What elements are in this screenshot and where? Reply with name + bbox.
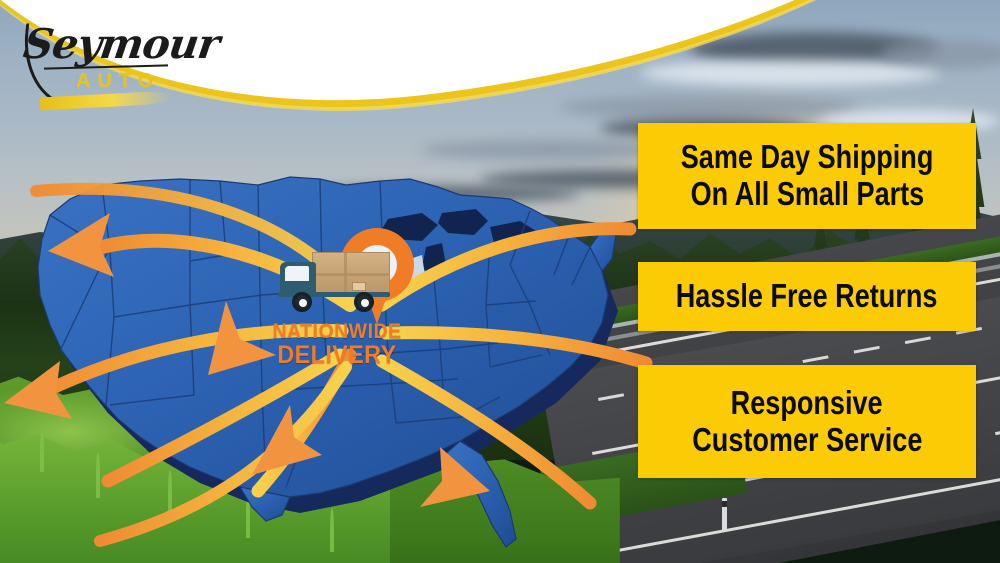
logo-subtitle: AUTO	[76, 70, 160, 93]
callout-3-line-2: Customer Service	[692, 422, 922, 459]
callout-list: Same Day Shipping On All Small Parts Has…	[638, 0, 976, 563]
delivery-truck-icon	[278, 252, 390, 318]
logo-wordmark: Seymour	[21, 20, 222, 68]
callout-1-line-2: On All Small Parts	[690, 176, 924, 213]
callout-responsive-customer-service[interactable]: Responsive Customer Service	[638, 365, 976, 478]
seymour-auto-logo[interactable]: Seymour AUTO	[18, 18, 248, 108]
banner-canvas: NATIONWIDE DELIVERY Seymour AUTO Same Da…	[0, 0, 1000, 563]
callout-2-line-1: Hassle Free Returns	[676, 278, 938, 315]
box-tape-vertical	[344, 252, 347, 296]
callout-1-line-1: Same Day Shipping	[681, 139, 934, 176]
callout-3-line-1: Responsive	[731, 385, 883, 422]
delivery-label-line2: DELIVERY	[267, 343, 407, 368]
truck-wheel-rear	[354, 292, 374, 312]
truck-wheel-front	[292, 292, 312, 312]
callout-same-day-shipping[interactable]: Same Day Shipping On All Small Parts	[638, 123, 976, 229]
box-label	[352, 282, 366, 291]
delivery-label-line1: NATIONWIDE	[267, 322, 407, 343]
box-tape-horizontal	[312, 273, 390, 276]
callout-hassle-free-returns[interactable]: Hassle Free Returns	[638, 262, 976, 331]
nationwide-delivery-label: NATIONWIDE DELIVERY	[262, 322, 412, 367]
truck-window	[285, 266, 309, 281]
